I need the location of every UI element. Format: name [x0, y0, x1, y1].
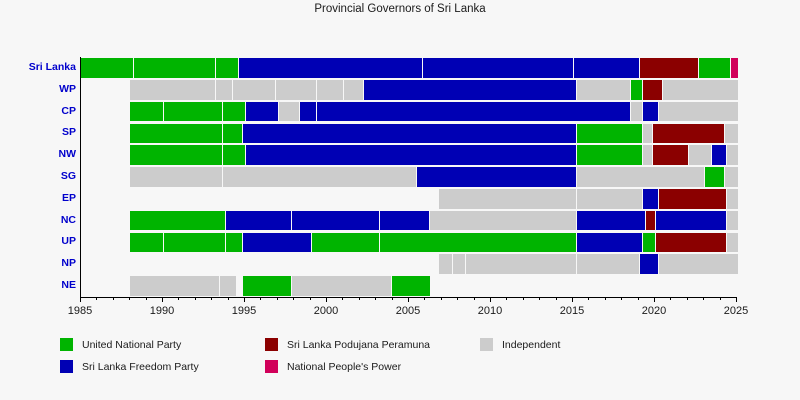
- timeline-segment[interactable]: [439, 189, 577, 209]
- legend-label: Sri Lanka Freedom Party: [82, 361, 199, 373]
- x-axis-minor-tick: [113, 297, 114, 300]
- y-axis-tick-label: NW: [4, 148, 76, 160]
- timeline-segment[interactable]: [652, 124, 725, 144]
- timeline-segment[interactable]: [245, 102, 279, 122]
- x-axis-tick-label: 1995: [214, 305, 274, 317]
- timeline-segment[interactable]: [130, 80, 215, 100]
- timeline-segment[interactable]: [658, 102, 738, 122]
- x-axis-minor-tick: [523, 297, 524, 300]
- x-axis-minor-tick: [556, 297, 557, 300]
- timeline-segment[interactable]: [343, 80, 364, 100]
- x-axis-minor-tick: [342, 297, 343, 300]
- x-axis-tick-label: 2005: [378, 305, 438, 317]
- timeline-segment[interactable]: [704, 167, 725, 187]
- timeline-row: [81, 254, 737, 274]
- x-axis-tick-label: 2025: [706, 305, 766, 317]
- x-axis-minor-tick: [375, 297, 376, 300]
- x-axis-tick: [80, 297, 81, 302]
- timeline-segment[interactable]: [130, 233, 163, 253]
- timeline-segment[interactable]: [242, 124, 578, 144]
- x-axis-minor-tick: [474, 297, 475, 300]
- x-axis-minor-tick: [228, 297, 229, 300]
- timeline-segment[interactable]: [222, 102, 246, 122]
- timeline-row: [81, 276, 737, 296]
- x-axis-minor-tick: [605, 297, 606, 300]
- timeline-segment[interactable]: [316, 102, 632, 122]
- x-axis-minor-tick: [211, 297, 212, 300]
- timeline-segment[interactable]: [465, 254, 578, 274]
- legend-item[interactable]: Sri Lanka Freedom Party: [60, 360, 199, 373]
- timeline-segment[interactable]: [291, 211, 381, 231]
- legend-swatch-icon: [60, 338, 73, 351]
- y-axis-tick-label: Sri Lanka: [4, 61, 76, 73]
- x-axis-minor-tick: [703, 297, 704, 300]
- x-axis-tick: [408, 297, 409, 302]
- x-axis-tick-label: 2010: [460, 305, 520, 317]
- timeline-segment[interactable]: [658, 189, 726, 209]
- timeline-row: [81, 167, 737, 187]
- x-axis-minor-tick: [129, 297, 130, 300]
- timeline-segment[interactable]: [163, 233, 226, 253]
- timeline-segment[interactable]: [724, 124, 738, 144]
- x-axis-minor-tick: [195, 297, 196, 300]
- timeline-segment[interactable]: [698, 58, 732, 78]
- timeline-segment[interactable]: [219, 276, 236, 296]
- timeline-segment[interactable]: [291, 276, 392, 296]
- x-axis-minor-tick: [539, 297, 540, 300]
- legend-item[interactable]: United National Party: [60, 338, 181, 351]
- timeline-segment[interactable]: [662, 80, 738, 100]
- timeline-segment[interactable]: [576, 233, 643, 253]
- timeline-segment[interactable]: [245, 145, 577, 165]
- x-axis-minor-tick: [146, 297, 147, 300]
- legend-label: United National Party: [82, 339, 181, 351]
- legend-label: Sri Lanka Podujana Peramuna: [287, 339, 430, 351]
- timeline-segment[interactable]: [639, 254, 660, 274]
- timeline-segment[interactable]: [724, 167, 738, 187]
- timeline-segment[interactable]: [133, 58, 216, 78]
- legend-item[interactable]: Independent: [480, 338, 560, 351]
- x-axis-minor-tick: [293, 297, 294, 300]
- timeline-segment[interactable]: [299, 102, 316, 122]
- timeline-segment[interactable]: [232, 80, 276, 100]
- y-axis-tick-label: CP: [4, 105, 76, 117]
- legend-label: National People's Power: [287, 361, 401, 373]
- timeline-segment[interactable]: [711, 145, 727, 165]
- x-axis-tick-label: 2020: [624, 305, 684, 317]
- legend-swatch-icon: [265, 360, 278, 373]
- timeline-segment[interactable]: [416, 167, 578, 187]
- x-axis-tick-label: 2015: [542, 305, 602, 317]
- timeline-segment[interactable]: [130, 145, 222, 165]
- legend-label: Independent: [502, 339, 560, 351]
- y-axis-tick-label: SG: [4, 170, 76, 182]
- timeline-segment[interactable]: [652, 145, 689, 165]
- timeline-row: [81, 211, 737, 231]
- timeline-segment[interactable]: [130, 167, 222, 187]
- x-axis-minor-tick: [178, 297, 179, 300]
- timeline-segment[interactable]: [576, 80, 631, 100]
- x-axis-minor-tick: [621, 297, 622, 300]
- timeline-row: [81, 189, 737, 209]
- timeline-segment[interactable]: [429, 211, 578, 231]
- legend-item[interactable]: Sri Lanka Podujana Peramuna: [265, 338, 430, 351]
- x-axis-tick-label: 1985: [50, 305, 110, 317]
- x-axis-minor-tick: [310, 297, 311, 300]
- plot-area: [80, 57, 737, 297]
- x-axis-minor-tick: [457, 297, 458, 300]
- timeline-segment[interactable]: [726, 233, 738, 253]
- timeline-segment[interactable]: [130, 276, 219, 296]
- timeline-segment[interactable]: [642, 80, 663, 100]
- timeline-segment[interactable]: [726, 145, 738, 165]
- x-axis-tick: [326, 297, 327, 302]
- legend-swatch-icon: [265, 338, 278, 351]
- timeline-segment[interactable]: [576, 211, 646, 231]
- y-axis-tick-label: NC: [4, 214, 76, 226]
- timeline-segment[interactable]: [576, 167, 705, 187]
- timeline-segment[interactable]: [573, 58, 640, 78]
- timeline-segment[interactable]: [439, 254, 452, 274]
- x-axis-minor-tick: [96, 297, 97, 300]
- timeline-segment[interactable]: [275, 80, 317, 100]
- x-axis-minor-tick: [441, 297, 442, 300]
- x-axis-tick: [654, 297, 655, 302]
- y-axis-tick-label: EP: [4, 192, 76, 204]
- x-axis-minor-tick: [506, 297, 507, 300]
- x-axis-tick: [490, 297, 491, 302]
- timeline-segment[interactable]: [242, 233, 312, 253]
- timeline-segment[interactable]: [316, 80, 345, 100]
- x-axis: 198519901995200020052010201520202025: [80, 297, 737, 327]
- x-axis-minor-tick: [638, 297, 639, 300]
- timeline-row: [81, 145, 737, 165]
- timeline-segment[interactable]: [452, 254, 466, 274]
- x-axis-tick-label: 2000: [296, 305, 356, 317]
- y-axis-labels: Sri LankaWPCPSPNWSGEPNCUPNPNE: [0, 57, 76, 297]
- x-axis-tick: [572, 297, 573, 302]
- chart-legend: United National PartySri Lanka Freedom P…: [60, 338, 760, 388]
- x-axis-minor-tick: [720, 297, 721, 300]
- x-axis-tick: [162, 297, 163, 302]
- timeline-row: [81, 124, 737, 144]
- timeline-segment[interactable]: [130, 102, 163, 122]
- timeline-segment[interactable]: [576, 145, 643, 165]
- y-axis-tick-label: WP: [4, 83, 76, 95]
- timeline-segment[interactable]: [222, 124, 243, 144]
- x-axis-minor-tick: [277, 297, 278, 300]
- timeline-segment[interactable]: [278, 102, 300, 122]
- timeline-segment[interactable]: [639, 58, 699, 78]
- legend-swatch-icon: [60, 360, 73, 373]
- timeline-row: [81, 80, 737, 100]
- timeline-segment[interactable]: [422, 58, 574, 78]
- timeline-row: [81, 102, 737, 122]
- timeline-segment[interactable]: [215, 58, 239, 78]
- timeline-segment[interactable]: [576, 189, 643, 209]
- timeline-segment[interactable]: [730, 58, 738, 78]
- x-axis-tick: [736, 297, 737, 302]
- timeline-segment[interactable]: [642, 189, 659, 209]
- x-axis-minor-tick: [588, 297, 589, 300]
- timeline-row: [81, 58, 737, 78]
- timeline-segment[interactable]: [130, 211, 225, 231]
- timeline-segment[interactable]: [363, 80, 577, 100]
- x-axis-minor-tick: [392, 297, 393, 300]
- x-axis-minor-tick: [670, 297, 671, 300]
- timeline-segment[interactable]: [222, 167, 417, 187]
- x-axis-minor-tick: [260, 297, 261, 300]
- timeline-segment[interactable]: [238, 58, 423, 78]
- timeline-segment[interactable]: [658, 254, 738, 274]
- legend-swatch-icon: [480, 338, 493, 351]
- x-axis-minor-tick: [687, 297, 688, 300]
- y-axis-tick-label: UP: [4, 235, 76, 247]
- x-axis-tick-label: 1990: [132, 305, 192, 317]
- timeline-segment[interactable]: [215, 80, 232, 100]
- timeline-segment[interactable]: [576, 124, 643, 144]
- legend-item[interactable]: National People's Power: [265, 360, 401, 373]
- timeline-segment[interactable]: [655, 233, 727, 253]
- timeline-segment[interactable]: [130, 124, 222, 144]
- timeline-segment[interactable]: [726, 211, 738, 231]
- timeline-segment[interactable]: [688, 145, 712, 165]
- page-title: Provincial Governors of Sri Lanka: [0, 3, 800, 15]
- timeline-segment[interactable]: [379, 233, 577, 253]
- timeline-segment[interactable]: [225, 211, 292, 231]
- timeline-segment[interactable]: [655, 211, 727, 231]
- timeline-segment[interactable]: [242, 276, 292, 296]
- x-axis-minor-tick: [424, 297, 425, 300]
- timeline-segment[interactable]: [642, 102, 659, 122]
- timeline-segment[interactable]: [225, 233, 242, 253]
- y-axis-tick-label: NE: [4, 279, 76, 291]
- timeline-segment[interactable]: [576, 254, 639, 274]
- timeline-segment[interactable]: [222, 145, 246, 165]
- y-axis-tick-label: SP: [4, 126, 76, 138]
- timeline-segment[interactable]: [163, 102, 223, 122]
- timeline-segment[interactable]: [642, 233, 656, 253]
- timeline-segment[interactable]: [311, 233, 381, 253]
- timeline-segment[interactable]: [81, 58, 133, 78]
- x-axis-minor-tick: [359, 297, 360, 300]
- timeline-segment[interactable]: [379, 211, 429, 231]
- chart-root: Provincial Governors of Sri Lanka Sri La…: [0, 0, 800, 400]
- y-axis-tick-label: NP: [4, 257, 76, 269]
- timeline-row: [81, 233, 737, 253]
- timeline-segment[interactable]: [726, 189, 738, 209]
- x-axis-tick: [244, 297, 245, 302]
- timeline-segment[interactable]: [391, 276, 430, 296]
